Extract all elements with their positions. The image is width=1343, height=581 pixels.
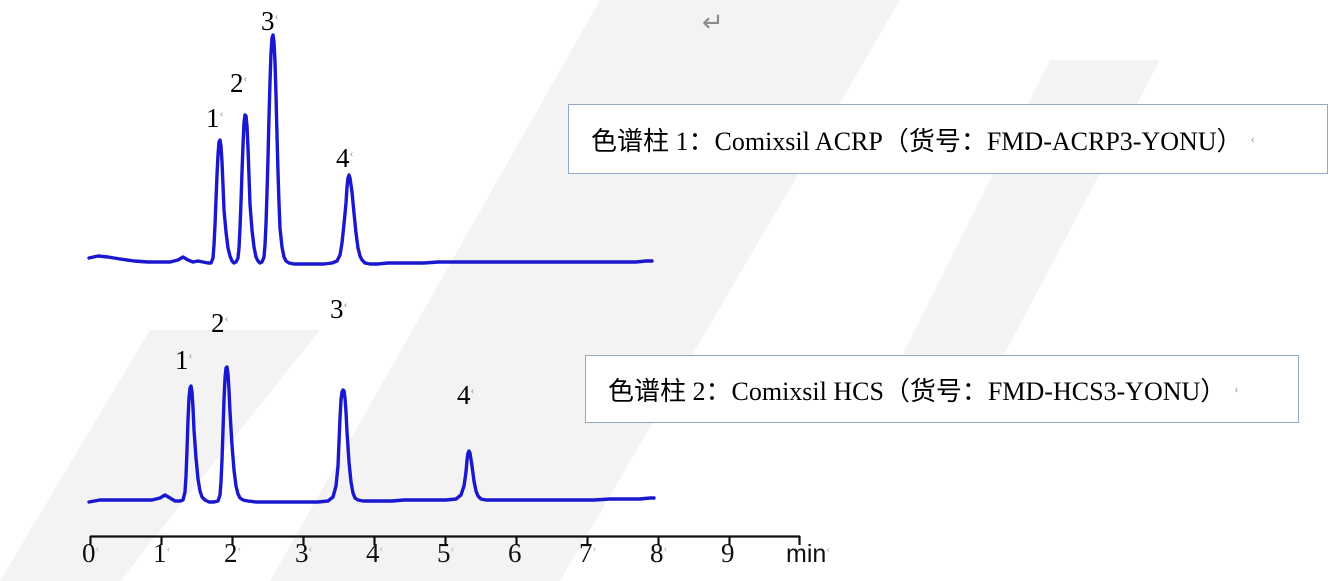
peak-label-1-bottom: 1‹ [175,347,193,374]
x-tick-label-9: 9 [721,540,735,567]
x-tick-label-2: 2‹ [224,540,241,567]
peak-label-2-top: 2‹ [230,70,248,97]
column-1-callout-text: 色谱柱 1：Comixsil ACRP（货号：FMD-ACRP3-YONU） [569,121,1243,158]
formatting-mark-box-1: ‹ [1243,131,1255,147]
column-2-callout-text: 色谱柱 2：Comixsil HCS（货号：FMD-HCS3-YONU） [586,371,1226,408]
peak-label-4-top: 4‹ [336,145,354,172]
x-tick-label-5: 5‹ [437,540,454,567]
peak-label-3-bottom: 3‹ [330,296,348,323]
chromatogram-chart: 1‹ 2‹ 3‹ 4‹ 1‹ 2‹ 3‹ 4‹ 0‹ 1‹ 2‹ 3‹ 4‹ 5… [0,0,900,581]
x-tick-label-0: 0‹ [82,540,99,567]
peak-label-1-top: 1‹ [206,105,224,132]
column-2-callout-box[interactable]: 色谱柱 2：Comixsil HCS（货号：FMD-HCS3-YONU） ‹ [585,355,1299,423]
peak-label-3-top: 3‹ [261,8,279,35]
peak-label-2-bottom: 2‹ [211,310,229,337]
x-tick-label-3: 3‹ [295,540,312,567]
formatting-mark-box-2: ‹ [1226,381,1238,397]
x-axis-unit-label: min‹ [786,542,830,567]
paragraph-return-icon: ↵ [702,10,724,36]
trace-path-2 [89,367,654,502]
column-1-callout-box[interactable]: 色谱柱 1：Comixsil ACRP（货号：FMD-ACRP3-YONU） ‹ [568,104,1328,174]
x-tick-label-1: 1‹ [153,540,170,567]
x-tick-label-4: 4‹ [366,540,383,567]
x-tick-label-7: 7‹ [579,540,596,567]
x-tick-label-8: 8‹ [650,540,667,567]
peak-label-4-bottom: 4‹ [457,382,475,409]
x-tick-label-6: 6 [508,540,522,567]
